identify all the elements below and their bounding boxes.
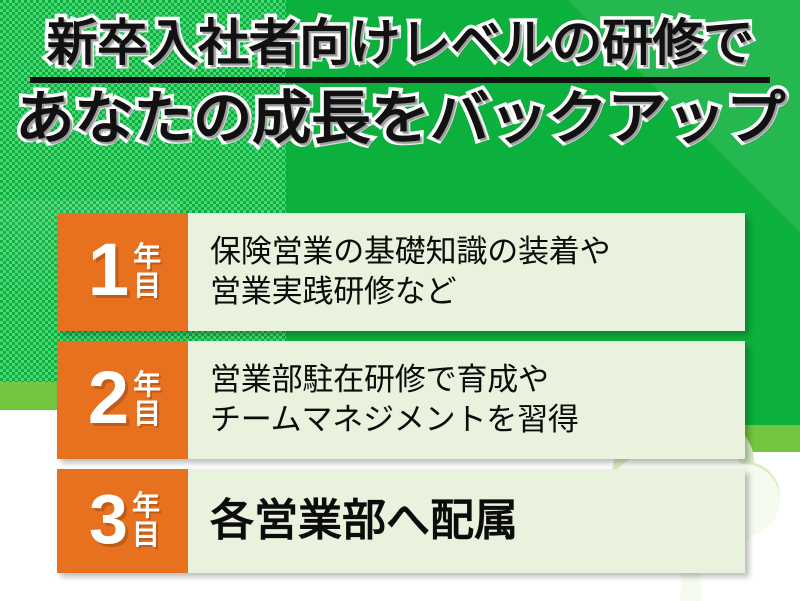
year-panel-2-line-1: 営業部駐在研修で育成や: [210, 360, 727, 400]
year-badge-unit-bottom-2: 目: [133, 400, 161, 429]
year-panel-3: 各営業部へ配属: [188, 469, 745, 573]
year-badge-1: 1 年 目: [57, 213, 188, 331]
year-panel-2: 営業部駐在研修で育成や チームマネジメントを習得: [188, 341, 745, 459]
year-badge-unit-1: 年 目: [133, 243, 161, 300]
year-panel-3-line-1: 各営業部へ配属: [210, 492, 727, 549]
year-panel-1-line-1: 保険営業の基礎知識の装着や: [210, 232, 727, 272]
timeline-rows: 1 年 目 保険営業の基礎知識の装着や 営業実践研修など 2 年 目: [0, 0, 800, 601]
slide-canvas: 新卒入社者向けレベルの研修で あなたの成長をバックアップ 1 年 目 保険営業の…: [0, 0, 800, 601]
year-badge-number-1: 1: [88, 238, 129, 302]
year-panel-1-line-2: 営業実践研修など: [210, 272, 727, 312]
year-badge-unit-3: 年 目: [132, 492, 160, 549]
year-badge-3: 3 年 目: [57, 469, 188, 573]
year-badge-number-3: 3: [89, 489, 128, 549]
year-badge-2: 2 年 目: [57, 341, 188, 459]
year-badge-unit-top-2: 年: [133, 371, 161, 400]
timeline-row-year1[interactable]: 1 年 目 保険営業の基礎知識の装着や 営業実践研修など: [57, 213, 745, 331]
year-badge-unit-top-1: 年: [133, 243, 161, 272]
year-badge-unit-bottom-1: 目: [133, 272, 161, 301]
year-panel-1: 保険営業の基礎知識の装着や 営業実践研修など: [188, 213, 745, 331]
timeline-row-year3[interactable]: 3 年 目 各営業部へ配属: [57, 469, 745, 573]
year-badge-number-2: 2: [88, 366, 129, 430]
year-badge-unit-2: 年 目: [133, 371, 161, 428]
year-panel-2-line-2: チームマネジメントを習得: [210, 400, 727, 440]
timeline-row-year2[interactable]: 2 年 目 営業部駐在研修で育成や チームマネジメントを習得: [57, 341, 745, 459]
year-badge-unit-top-3: 年: [132, 492, 160, 521]
year-badge-unit-bottom-3: 目: [132, 521, 160, 550]
